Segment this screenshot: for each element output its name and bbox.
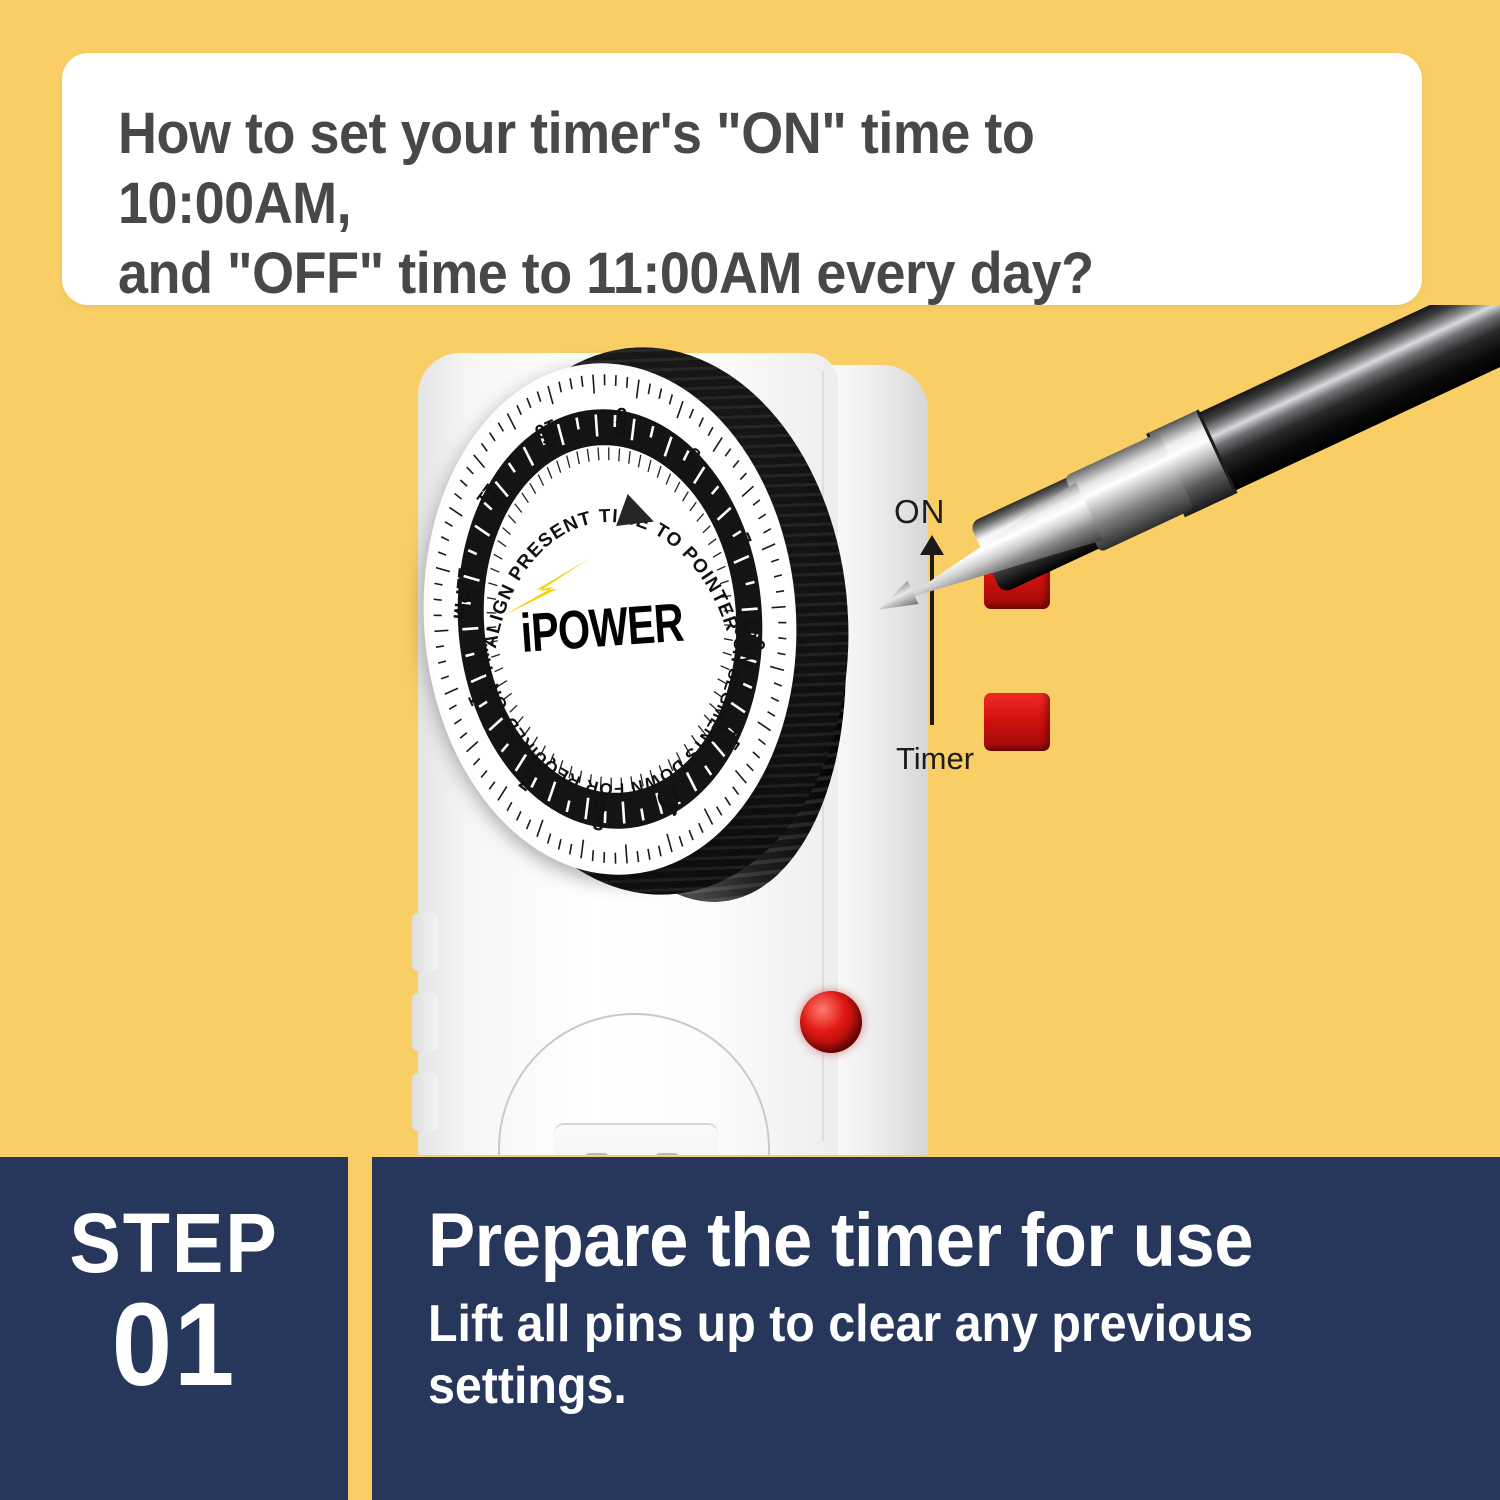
step-badge: STEP 01 (0, 1157, 348, 1500)
outlet-face (554, 1123, 718, 1155)
device-edge-tab (412, 1073, 438, 1131)
step-footer: STEP 01 Prepare the timer for use Lift a… (0, 1157, 1500, 1500)
svg-text:1: 1 (463, 690, 488, 709)
outlet-slot-right (656, 1153, 678, 1155)
svg-text:3: 3 (592, 813, 605, 836)
step-subtext: Lift all pins up to clear any previous s… (428, 1293, 1380, 1417)
step-number: 01 (14, 1287, 334, 1403)
outlet-slot-left (586, 1153, 608, 1155)
page-title: How to set your timer's "ON" time to 10:… (118, 99, 1279, 309)
step-heading: Prepare the timer for use (428, 1199, 1380, 1283)
device-edge-tab (412, 913, 438, 971)
step-description: Prepare the timer for use Lift all pins … (372, 1157, 1500, 1500)
svg-text:9: 9 (615, 404, 628, 427)
brand-logo: iPOWER (519, 588, 712, 655)
step-label: STEP (14, 1199, 334, 1287)
lightning-bolt-icon (494, 556, 602, 619)
product-photo-stage: ON Timer (0, 305, 1500, 1155)
switch-timer-label: Timer (896, 741, 974, 777)
device-edge-tab (412, 993, 438, 1051)
timer-dial[interactable]: 1234567891011 1234567891011 12AM12PM ALI… (416, 339, 886, 919)
pen-black-section (1187, 305, 1500, 496)
dial-face[interactable]: 1234567891011 1234567891011 12AM12PM ALI… (407, 351, 814, 888)
stylus-pen-icon (855, 305, 1500, 665)
svg-text:12PM: 12PM (448, 566, 475, 620)
red-led-indicator (800, 991, 862, 1053)
title-card: How to set your timer's "ON" time to 10:… (62, 53, 1422, 305)
mode-switch-timer[interactable] (984, 693, 1050, 751)
